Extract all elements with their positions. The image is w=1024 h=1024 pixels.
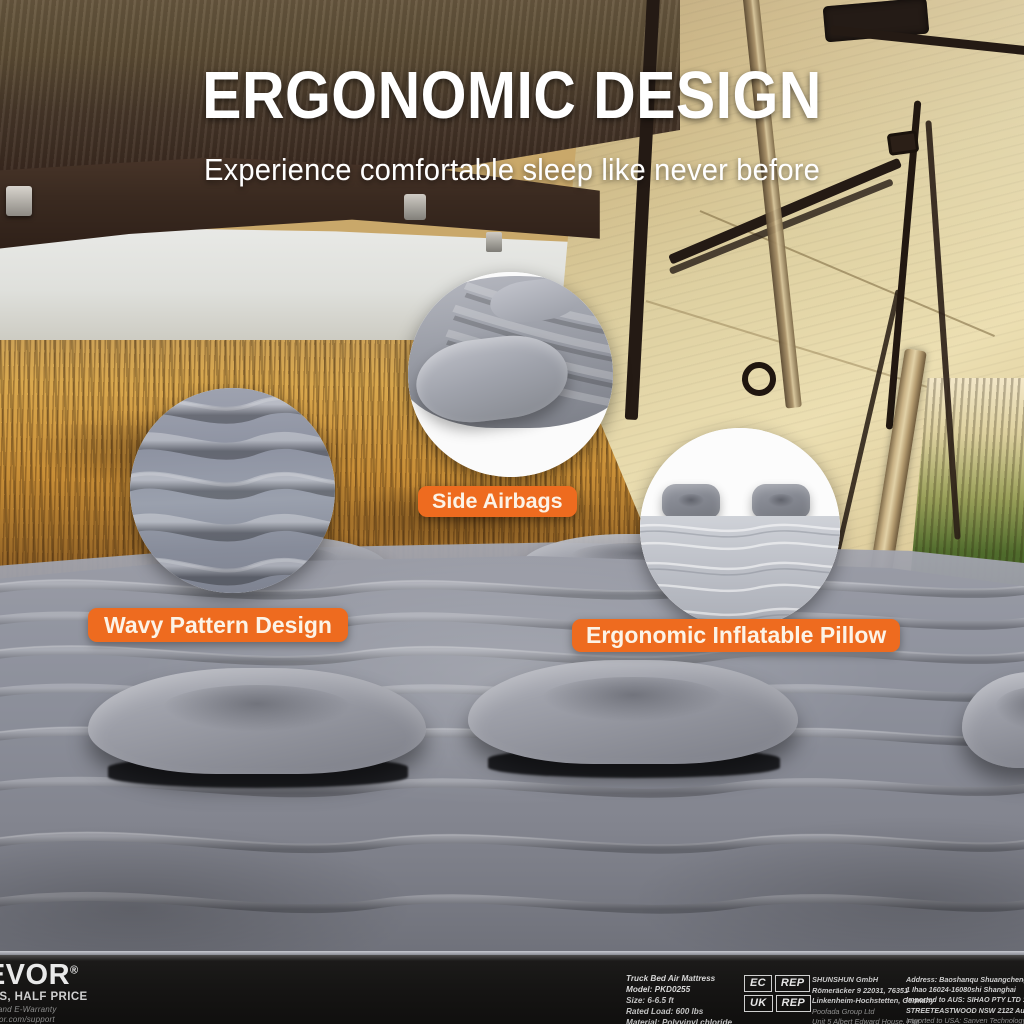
importer-usa-line: Imported to USA: Sanven Technology Ltd S…	[906, 1016, 1024, 1024]
uk-rep-row: UK REP	[744, 995, 811, 1012]
tent-d-ring-icon	[742, 362, 776, 396]
closeup-mattress-surface	[640, 516, 840, 628]
brand-name: VEVOR	[0, 959, 70, 991]
importer-address-line1: Address: Baoshanqu Shuangchengiu 803	[906, 975, 1024, 985]
product-size: Size: 6-6.5 ft	[626, 995, 732, 1006]
importer-aus-line1: Imported to AUS: SIHAO PTY LTD 1 ROKEVA	[906, 995, 1024, 1005]
awning-clip-icon-2	[404, 194, 426, 220]
importer-aus-line2: STREETEASTWOOD NSW 2122 Australia	[906, 1006, 1024, 1016]
product-model: Model: PKD0255	[626, 984, 732, 995]
pillow-indent	[995, 687, 1024, 729]
registered-mark: ®	[70, 964, 79, 976]
product-material: Material: Polyvinyl chloride	[626, 1017, 732, 1024]
brand-support-line: Support and E-Warranty www.vevor.com/sup…	[0, 1005, 57, 1024]
closeup-pillow-right	[752, 484, 810, 518]
product-rated-load: Rated Load: 600 lbs	[626, 1006, 732, 1017]
compliance-marks: EC REP UK REP	[744, 975, 811, 1015]
callout-label-wavy-pattern[interactable]: Wavy Pattern Design	[88, 608, 348, 642]
uk-rep-mark: REP	[776, 995, 812, 1012]
product-spec-block: Truck Bed Air Mattress Model: PKD0255 Si…	[626, 973, 732, 1024]
callout-circle-ergonomic-pillow	[640, 428, 840, 628]
brand-tagline: TOOLS, HALF PRICE	[0, 991, 88, 1003]
pillow-indent	[541, 677, 726, 723]
callout-label-ergonomic-pillow[interactable]: Ergonomic Inflatable Pillow	[572, 619, 900, 652]
callout-circle-wavy-pattern	[130, 388, 335, 593]
awning-clip-icon-3	[486, 232, 502, 252]
vevor-logo: VEVOR®	[0, 961, 79, 990]
brand-support-url: www.vevor.com/support	[0, 1015, 57, 1024]
uk-mark: UK	[744, 995, 773, 1012]
ec-rep-mark: REP	[775, 975, 811, 992]
callout-circle-side-airbags	[408, 272, 613, 477]
ec-mark: EC	[744, 975, 772, 992]
pillow-indent	[162, 685, 351, 732]
closeup-pillow-left	[662, 484, 720, 518]
page-subtitle: Experience comfortable sleep like never …	[31, 152, 994, 188]
awning-clip-icon	[6, 186, 32, 216]
product-marketing-image: ERGONOMIC DESIGN Experience comfortable …	[0, 0, 1024, 1024]
ec-rep-row: EC REP	[744, 975, 811, 992]
product-name: Truck Bed Air Mattress	[626, 973, 732, 984]
page-title: ERGONOMIC DESIGN	[61, 62, 962, 129]
inflatable-pillow-left	[88, 668, 426, 774]
importer-address-line2: 1 Ihao 16024-16080shi Shanghai	[906, 985, 1024, 995]
brand-support-warranty: Support and E-Warranty	[0, 1005, 57, 1015]
importer-details: Address: Baoshanqu Shuangchengiu 803 1 I…	[906, 975, 1024, 1024]
inflatable-pillow-right	[468, 660, 798, 764]
callout-label-side-airbags[interactable]: Side Airbags	[418, 486, 577, 517]
product-label-band: VEVOR® TOOLS, HALF PRICE Support and E-W…	[0, 955, 1024, 1024]
